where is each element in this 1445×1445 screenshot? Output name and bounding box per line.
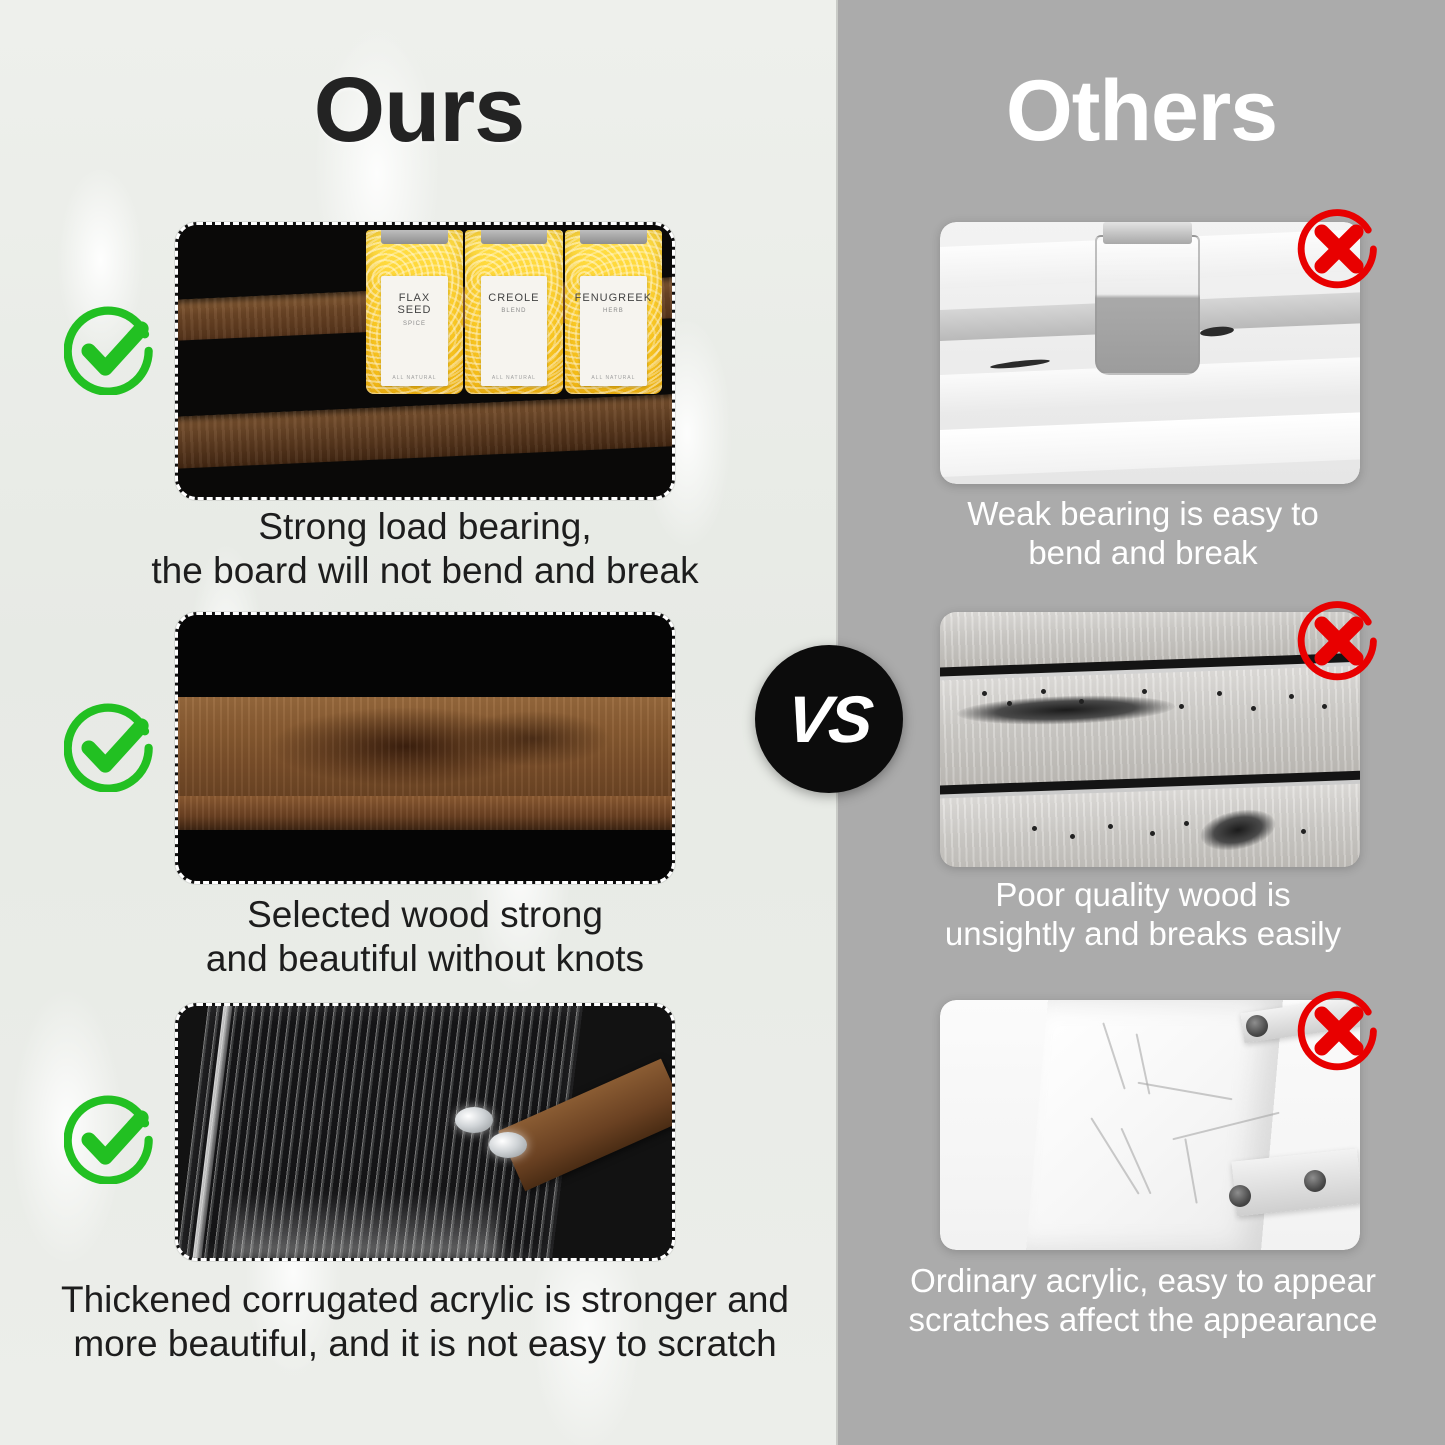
jar-lid bbox=[580, 230, 646, 243]
jar-lid bbox=[381, 230, 447, 243]
wood-speck bbox=[1289, 694, 1294, 699]
corrugated-acrylic-scene bbox=[178, 1006, 672, 1258]
wood-knot bbox=[990, 358, 1050, 370]
jar-label-name-line1: FLAX bbox=[399, 292, 431, 305]
check-circle-icon-svg bbox=[64, 303, 156, 395]
cross-circle-icon bbox=[1296, 988, 1382, 1079]
ours-heading: Ours bbox=[0, 58, 838, 163]
caption-line-1: Ordinary acrylic, easy to appear bbox=[848, 1262, 1438, 1301]
ours-caption-corrugated-acrylic: Thickened corrugated acrylic is stronger… bbox=[40, 1278, 810, 1365]
ours-photo-load-bearing: FLAX SEED SPICE ALL NATURAL CREOLE BLEND… bbox=[175, 222, 675, 500]
shelf-scene: FLAX SEED SPICE ALL NATURAL CREOLE BLEND… bbox=[178, 225, 672, 497]
jar-label-sub: SPICE bbox=[403, 321, 426, 327]
shelf-line bbox=[940, 411, 1360, 478]
jar-lid bbox=[481, 230, 547, 243]
others-caption-poor-wood: Poor quality wood is unsightly and break… bbox=[848, 876, 1438, 954]
jar-lid bbox=[1103, 222, 1192, 244]
vs-badge-label: VS bbox=[783, 681, 875, 757]
spice-jar-group: FLAX SEED SPICE ALL NATURAL CREOLE BLEND… bbox=[366, 230, 662, 393]
check-circle-icon-svg bbox=[64, 1092, 156, 1184]
glass-jar bbox=[1095, 235, 1200, 375]
caption-line-2: the board will not bend and break bbox=[40, 549, 810, 593]
screw-head-icon bbox=[1229, 1185, 1251, 1207]
caption-line-2: and beautiful without knots bbox=[40, 937, 810, 981]
jar-label: CREOLE BLEND ALL NATURAL bbox=[481, 276, 547, 386]
check-circle-icon bbox=[64, 303, 156, 400]
jar-label: FLAX SEED SPICE ALL NATURAL bbox=[381, 276, 447, 386]
check-circle-icon-svg bbox=[64, 700, 156, 792]
caption-line-1: Poor quality wood is bbox=[848, 876, 1438, 915]
spice-jar: CREOLE BLEND ALL NATURAL bbox=[465, 230, 562, 393]
cross-circle-icon bbox=[1296, 598, 1382, 689]
ours-caption-selected-wood: Selected wood strong and beautiful witho… bbox=[40, 893, 810, 980]
wood-speck bbox=[1142, 689, 1147, 694]
caption-line-1: Weak bearing is easy to bbox=[848, 495, 1438, 534]
others-heading: Others bbox=[838, 62, 1445, 161]
wood-speck bbox=[1322, 704, 1327, 709]
screw-head-icon bbox=[1246, 1015, 1268, 1037]
ours-photo-corrugated-acrylic bbox=[175, 1003, 675, 1261]
screw-head-icon bbox=[455, 1107, 493, 1133]
comparison-infographic: Ours Others FLAX SEED SPICE ALL NATURAL bbox=[0, 0, 1445, 1445]
vs-badge: VS bbox=[755, 645, 903, 793]
light-glow bbox=[227, 1192, 499, 1258]
spice-jar: FENUGREEK HERB ALL NATURAL bbox=[565, 230, 662, 393]
jar-label-name-line1: FENUGREEK bbox=[575, 292, 652, 305]
others-caption-ordinary-acrylic: Ordinary acrylic, easy to appear scratch… bbox=[848, 1262, 1438, 1340]
mounting-bracket bbox=[1231, 1149, 1360, 1217]
jar-label: FENUGREEK HERB ALL NATURAL bbox=[580, 276, 646, 386]
caption-line-2: more beautiful, and it is not easy to sc… bbox=[40, 1322, 810, 1366]
wood-plank bbox=[940, 782, 1360, 867]
caption-line-2: scratches affect the appearance bbox=[848, 1301, 1438, 1340]
wood-speck bbox=[1108, 824, 1113, 829]
shelf-plank-bottom bbox=[175, 392, 675, 469]
check-circle-icon bbox=[64, 1092, 156, 1189]
wood-speck bbox=[1184, 821, 1189, 826]
cross-circle-icon-svg bbox=[1296, 988, 1382, 1074]
jar-label-sub: HERB bbox=[603, 308, 624, 314]
ours-photo-selected-wood bbox=[175, 612, 675, 884]
screw-head-icon bbox=[489, 1132, 527, 1158]
jar-label-name-line2: SEED bbox=[397, 304, 431, 317]
caption-line-1: Selected wood strong bbox=[40, 893, 810, 937]
jar-label-footer: ALL NATURAL bbox=[392, 375, 436, 381]
wood-plank-scene bbox=[178, 615, 672, 881]
spice-jar: FLAX SEED SPICE ALL NATURAL bbox=[366, 230, 463, 393]
jar-label-name-line1: CREOLE bbox=[488, 292, 539, 305]
check-circle-icon bbox=[64, 700, 156, 797]
wood-speck bbox=[1041, 689, 1046, 694]
caption-line-2: bend and break bbox=[848, 534, 1438, 573]
wood-speck bbox=[1301, 829, 1306, 834]
jar-label-footer: ALL NATURAL bbox=[492, 375, 536, 381]
cross-circle-icon-svg bbox=[1296, 206, 1382, 292]
jar-label-footer: ALL NATURAL bbox=[591, 375, 635, 381]
wood-speck bbox=[1079, 699, 1084, 704]
cross-circle-icon-svg bbox=[1296, 598, 1382, 684]
caption-line-1: Thickened corrugated acrylic is stronger… bbox=[40, 1278, 810, 1322]
ours-caption-load-bearing: Strong load bearing, the board will not … bbox=[40, 505, 810, 592]
wood-plank-lower bbox=[178, 796, 672, 831]
caption-line-1: Strong load bearing, bbox=[40, 505, 810, 549]
others-caption-weak-bearing: Weak bearing is easy to bend and break bbox=[848, 495, 1438, 573]
caption-line-2: unsightly and breaks easily bbox=[848, 915, 1438, 954]
jar-label-sub: BLEND bbox=[501, 308, 526, 314]
cross-circle-icon bbox=[1296, 206, 1382, 297]
wood-plank-main bbox=[178, 697, 672, 795]
